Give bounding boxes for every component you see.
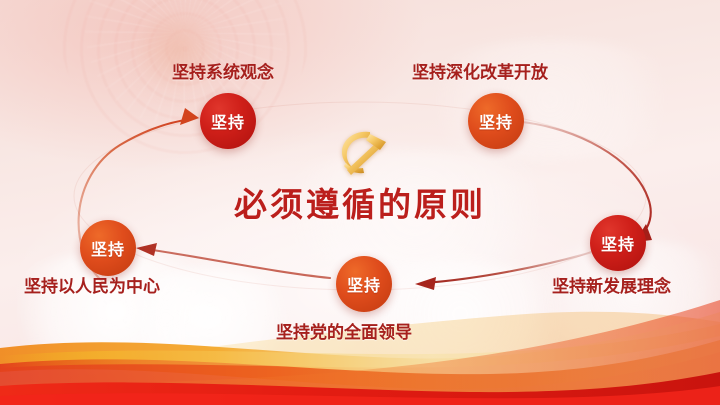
node-badge-text: 坚持 — [479, 109, 513, 133]
slide-canvas: 必须遵循的原则 坚持 坚持 坚持 坚持 坚持 坚持系统观念 坚持深化改革开放 坚… — [0, 0, 720, 405]
node-label-right: 坚持新发展理念 — [552, 272, 671, 297]
page-title: 必须遵循的原则 — [0, 178, 720, 226]
node-badge-text: 坚持 — [91, 236, 125, 260]
node-label-top-left: 坚持系统观念 — [172, 58, 274, 83]
node-badge-top-right[interactable]: 坚持 — [468, 93, 524, 149]
node-badge-text: 坚持 — [211, 109, 245, 133]
node-label-top-right: 坚持深化改革开放 — [412, 58, 548, 83]
node-label-left: 坚持以人民为中心 — [24, 272, 160, 297]
node-badge-left[interactable]: 坚持 — [80, 220, 136, 276]
node-badge-text: 坚持 — [601, 231, 635, 255]
node-label-bottom: 坚持党的全面领导 — [276, 318, 412, 343]
hammer-and-sickle-icon — [330, 126, 392, 178]
node-badge-top-left[interactable]: 坚持 — [200, 93, 256, 149]
node-badge-text: 坚持 — [347, 272, 381, 296]
node-badge-bottom[interactable]: 坚持 — [336, 256, 392, 312]
